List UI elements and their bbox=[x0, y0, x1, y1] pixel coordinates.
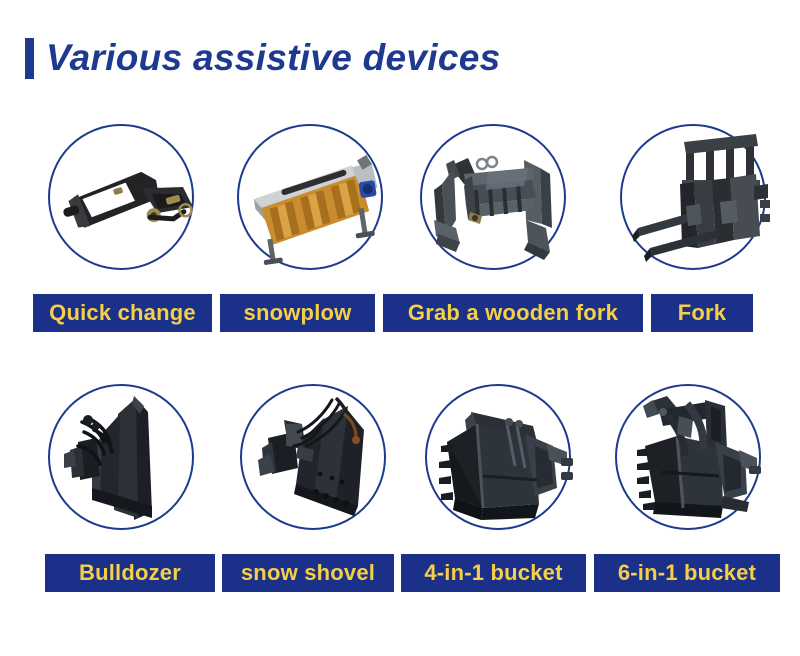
product-row-1-thumbnails bbox=[0, 108, 800, 288]
product-label-bulldozer[interactable]: Bulldozer bbox=[45, 554, 215, 592]
product-label-fork[interactable]: Fork bbox=[651, 294, 753, 332]
title-accent-bar bbox=[25, 38, 34, 79]
product-label-snow-shovel[interactable]: snow shovel bbox=[222, 554, 394, 592]
page-header: Various assistive devices bbox=[0, 0, 800, 108]
product-row-1-labels: Quick change snowplow Grab a wooden fork… bbox=[0, 294, 800, 334]
product-card-grab-wooden-fork[interactable] bbox=[420, 124, 570, 274]
product-card-6in1-bucket[interactable] bbox=[615, 384, 765, 534]
log-grapple-photo bbox=[420, 124, 570, 274]
product-label-snowplow[interactable]: snowplow bbox=[220, 294, 375, 332]
four-in-one-bucket-photo bbox=[425, 384, 575, 534]
product-card-snowplow[interactable] bbox=[237, 124, 387, 274]
product-card-bulldozer[interactable] bbox=[48, 384, 198, 534]
product-card-quick-change[interactable] bbox=[48, 124, 198, 274]
product-card-snow-shovel[interactable] bbox=[240, 384, 390, 534]
six-in-one-bucket-photo bbox=[615, 384, 765, 534]
product-label-6in1-bucket[interactable]: 6-in-1 bucket bbox=[594, 554, 780, 592]
product-card-fork[interactable] bbox=[620, 124, 770, 274]
product-row-2-labels: Bulldozer snow shovel 4-in-1 bucket 6-in… bbox=[0, 554, 800, 594]
product-row-2-thumbnails bbox=[0, 368, 800, 548]
rotary-broom-sweeper-photo bbox=[237, 124, 387, 274]
product-card-4in1-bucket[interactable] bbox=[425, 384, 575, 534]
product-label-4in1-bucket[interactable]: 4-in-1 bucket bbox=[401, 554, 586, 592]
pallet-fork-photo bbox=[620, 124, 770, 274]
product-label-grab-wooden-fork[interactable]: Grab a wooden fork bbox=[383, 294, 643, 332]
quick-change-coupler-photo bbox=[48, 124, 198, 274]
page-title: Various assistive devices bbox=[46, 32, 501, 84]
dozer-blade-photo bbox=[48, 384, 198, 534]
snow-blade-photo bbox=[240, 384, 390, 534]
product-label-quick-change[interactable]: Quick change bbox=[33, 294, 212, 332]
